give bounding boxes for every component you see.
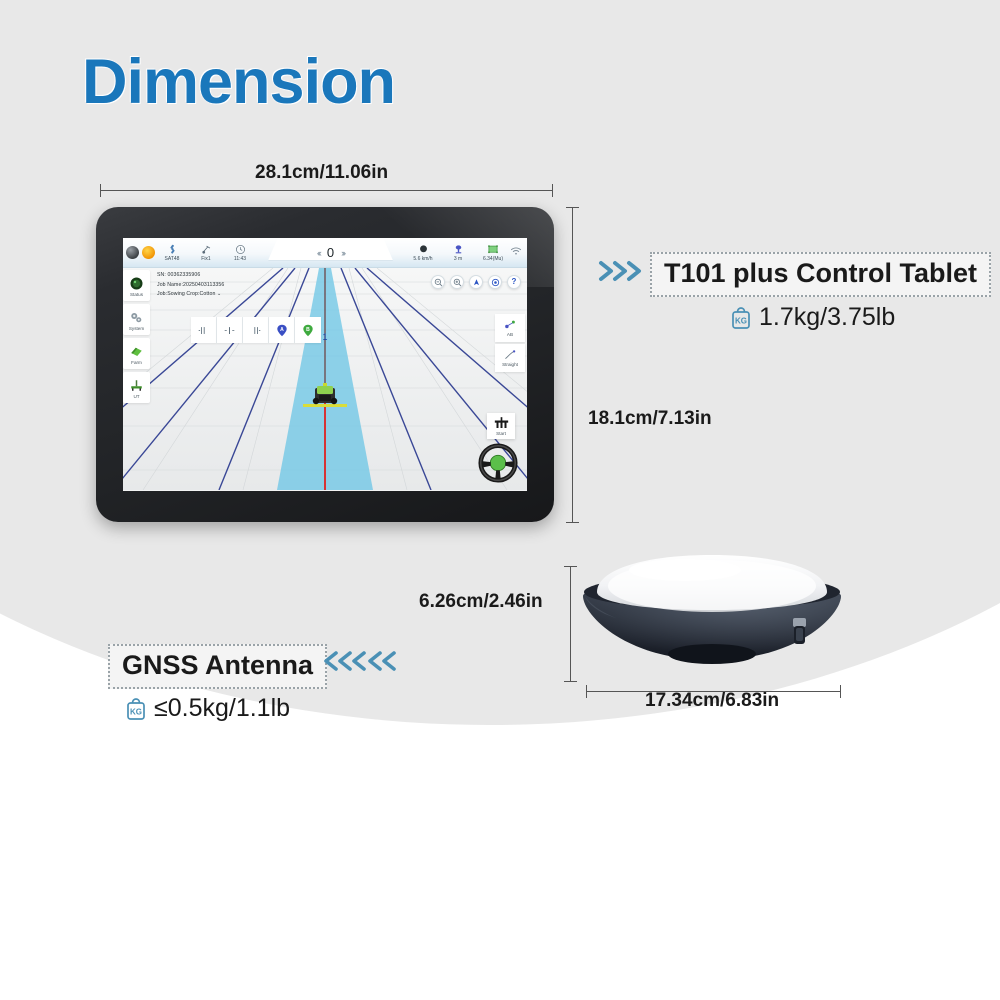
status-item-satellites[interactable]: SAT48	[155, 243, 189, 262]
callout-antenna-weight-row: KG ≤0.5kg/1.1lb	[123, 694, 290, 723]
callout-tablet-weight: 1.7kg/3.75lb	[759, 303, 895, 332]
callout-tablet-weight-row: KG 1.7kg/3.75lb	[728, 303, 895, 332]
banner-caption: 10.1" Capacitive Touch Screen	[0, 885, 1000, 940]
north-up-icon[interactable]	[469, 275, 483, 289]
dim-line-tablet-width	[100, 190, 552, 191]
sidebar-label-status: Status	[130, 292, 143, 297]
status-item-antenna-height[interactable]: 3 m	[441, 243, 475, 262]
zoom-out-icon[interactable]	[431, 275, 445, 289]
chevron-left-group-icon: ‹‹‹	[317, 248, 320, 258]
status-right-group: 5.6 km/h 3 m 6.34(Mu)	[406, 243, 510, 262]
chevron-right-decoration-icon	[597, 258, 649, 284]
dim-label-tablet-height: 18.1cm/7.13in	[588, 408, 712, 430]
infographic-page: 10.1" Capacitive Touch Screen Dimension …	[0, 0, 1000, 1000]
guidance-tool-strip: A B	[191, 317, 321, 343]
sidebar-label-system: System	[129, 326, 144, 331]
wifi-icon[interactable]	[510, 246, 527, 259]
satellite-orb-icon[interactable]	[126, 246, 139, 259]
svg-text:B: B	[306, 327, 310, 333]
shift-left-icon[interactable]	[191, 317, 217, 343]
dim-cap-right	[552, 184, 553, 197]
sidebar-item-farm[interactable]: Farm	[123, 338, 150, 369]
mode-label-ab: AB	[507, 332, 513, 337]
tablet-screen[interactable]: 1	[123, 238, 527, 491]
status-orbs	[123, 246, 155, 259]
clock-icon	[235, 243, 246, 256]
sidebar-item-ut[interactable]: UT	[123, 372, 150, 403]
steering-wheel-icon	[478, 443, 518, 483]
area-icon	[487, 243, 499, 256]
job-name: Job Name:20250403113356	[157, 281, 224, 291]
sidebar-label-ut: UT	[133, 394, 139, 399]
dim-label-tablet-width: 28.1cm/11.06in	[255, 162, 388, 184]
status-item-fix[interactable]: Fix1	[189, 243, 223, 262]
help-icon[interactable]: ?	[507, 275, 521, 289]
sidebar-label-farm: Farm	[131, 360, 142, 365]
svg-text:KG: KG	[130, 707, 142, 716]
guidance-mode-group: AB Straight	[495, 314, 525, 374]
sidebar-item-status[interactable]: Status	[123, 270, 150, 301]
map-tool-group: ?	[431, 275, 521, 289]
mode-button-ab[interactable]: AB	[495, 314, 525, 342]
chevron-right-group-icon: ›››	[341, 248, 344, 258]
area-label: 6.34(Mu)	[483, 256, 503, 262]
dim-cap-top	[566, 207, 579, 208]
job-crop[interactable]: Job:Sowing Crop:Cotton ⌄	[157, 290, 224, 300]
dim-label-antenna-width: 17.34cm/6.83in	[645, 690, 779, 712]
antenna-height-label: 3 m	[454, 256, 462, 262]
dim-line-antenna-height	[570, 566, 571, 681]
sidebar-item-system[interactable]: System	[123, 304, 150, 335]
zoom-in-icon[interactable]	[450, 275, 464, 289]
status-icon	[129, 275, 144, 292]
ut-implement-icon	[129, 377, 144, 394]
gps-fix-icon	[201, 243, 212, 256]
status-item-time[interactable]: 11:43	[223, 243, 257, 262]
recenter-icon[interactable]	[488, 275, 502, 289]
shift-right-icon[interactable]	[243, 317, 269, 343]
job-serial-number: SN: 00362335906	[157, 271, 224, 281]
screen-status-bar: SAT48 Fix1 11:43 ‹‹‹ 0	[123, 238, 527, 268]
start-implement-icon	[494, 416, 509, 431]
speed-icon	[418, 243, 429, 256]
sun-orb-icon[interactable]	[142, 246, 155, 259]
kg-weight-icon: KG	[123, 696, 149, 722]
start-button-label: Start	[496, 431, 506, 436]
cross-track-error-indicator[interactable]: ‹‹‹ 0 ›››	[257, 238, 404, 268]
dim-cap-bottom	[566, 522, 579, 523]
dim-label-antenna-height: 6.26cm/2.46in	[419, 591, 543, 613]
point-a-icon[interactable]: A	[269, 317, 295, 343]
status-item-area[interactable]: 6.34(Mu)	[476, 243, 510, 262]
clock-label: 11:43	[234, 256, 246, 262]
gnss-antenna-device	[575, 548, 850, 688]
callout-antenna-label: GNSS Antenna	[108, 644, 327, 689]
control-tablet-device: 1	[96, 207, 554, 522]
farm-field-icon	[129, 343, 144, 360]
dim-line-tablet-height	[572, 207, 573, 522]
svg-text:KG: KG	[735, 316, 747, 325]
cte-value: 0	[327, 245, 334, 260]
line-number-label: 1	[322, 332, 327, 342]
point-b-icon[interactable]: B	[295, 317, 321, 343]
bottom-banner	[0, 690, 1000, 1000]
page-title: Dimension	[82, 46, 395, 118]
kg-weight-icon: KG	[728, 305, 754, 331]
chevron-left-decoration-icon	[322, 648, 404, 674]
autosteer-button[interactable]	[478, 443, 518, 483]
callout-tablet-label: T101 plus Control Tablet	[650, 252, 991, 297]
fix-status-label: Fix1	[201, 256, 210, 262]
start-button[interactable]: Start	[487, 413, 515, 439]
field-svg: 1	[123, 268, 527, 490]
system-gears-icon	[129, 309, 144, 326]
speed-label: 5.6 km/h	[413, 256, 432, 262]
satellite-icon	[167, 243, 178, 256]
antenna-height-icon	[453, 243, 464, 256]
satellite-count-label: SAT48	[165, 256, 180, 262]
field-guidance-view[interactable]: 1	[123, 268, 527, 490]
svg-text:A: A	[280, 327, 284, 333]
dim-cap-left	[100, 184, 101, 197]
job-info-panel: SN: 00362335906 Job Name:20250403113356 …	[157, 271, 224, 300]
center-line-icon[interactable]	[217, 317, 243, 343]
mode-button-straight[interactable]: Straight	[495, 344, 525, 372]
callout-antenna-weight: ≤0.5kg/1.1lb	[154, 694, 290, 723]
mode-label-straight: Straight	[502, 362, 518, 367]
status-item-speed[interactable]: 5.6 km/h	[406, 243, 440, 262]
screen-side-rail: Status System Farm	[123, 268, 152, 403]
